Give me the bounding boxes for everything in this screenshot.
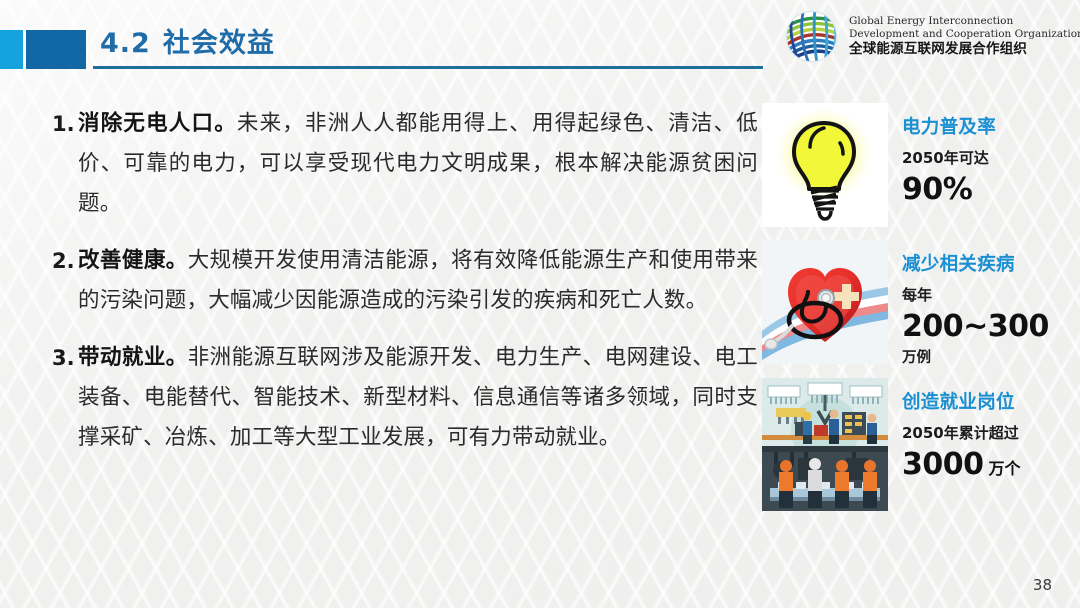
card-thumbnail (762, 240, 888, 364)
card-value-unit: 万个 (989, 459, 1021, 478)
page-number: 38 (1033, 576, 1052, 594)
list-item: 3. 带动就业。非洲能源互联网涉及能源开发、电力生产、电网建设、电工装备、电能替… (52, 338, 758, 458)
factory-workers-icon (762, 378, 888, 511)
title-underline (93, 66, 763, 69)
section-number: 4.2 (100, 28, 151, 59)
list-item-body: 消除无电人口。未来，非洲人人都能用得上、用得起绿色、清洁、低价、可靠的电力，可以… (78, 104, 758, 224)
heart-stethoscope-icon (762, 240, 888, 364)
card-heading: 创造就业岗位 (902, 388, 1021, 414)
logo-cn-name: 全球能源互联网发展合作组织 (849, 42, 1080, 58)
list-item-body: 带动就业。非洲能源互联网涉及能源开发、电力生产、电网建设、电工装备、电能替代、智… (78, 338, 758, 458)
card-heading: 减少相关疾病 (902, 250, 1049, 276)
section-title: 社会效益 (163, 28, 275, 59)
list-item-body: 改善健康。大规模开发使用清洁能源，将有效降低能源生产和使用带来的污染问题，大幅减… (78, 241, 758, 321)
stat-card-disease-reduction: 减少相关疾病 每年 200~300 万例 (762, 240, 1049, 367)
card-subtitle: 2050年可达 (902, 147, 996, 168)
organization-logo: Global Energy Interconnection Developmen… (783, 8, 1080, 65)
card-thumbnail (762, 378, 888, 511)
lightbulb-icon (762, 103, 888, 227)
title-accent-dark (26, 30, 86, 69)
list-item-number: 2. (52, 241, 78, 281)
card-value: 90% (902, 172, 996, 207)
card-value-number: 200~300 (902, 309, 1049, 344)
stat-card-jobs-created: 创造就业岗位 2050年累计超过 3000万个 (762, 378, 1021, 511)
title-accent-light (0, 30, 23, 69)
card-text-block: 减少相关疾病 每年 200~300 万例 (902, 240, 1049, 367)
body-list: 1. 消除无电人口。未来，非洲人人都能用得上、用得起绿色、清洁、低价、可靠的电力… (52, 104, 758, 475)
list-item-lead: 消除无电人口。 (78, 111, 237, 136)
card-value-unit: 万例 (902, 346, 1049, 367)
list-item: 1. 消除无电人口。未来，非洲人人都能用得上、用得起绿色、清洁、低价、可靠的电力… (52, 104, 758, 224)
stat-card-electricity-access: 电力普及率 2050年可达 90% (762, 103, 996, 227)
card-subtitle: 2050年累计超过 (902, 422, 1021, 443)
list-item-lead: 改善健康。 (78, 248, 188, 273)
card-text-block: 创造就业岗位 2050年累计超过 3000万个 (902, 378, 1021, 482)
globe-logo-icon (783, 8, 840, 65)
list-item-number: 1. (52, 104, 78, 144)
list-item: 2. 改善健康。大规模开发使用清洁能源，将有效降低能源生产和使用带来的污染问题，… (52, 241, 758, 321)
card-heading: 电力普及率 (902, 113, 996, 139)
card-thumbnail (762, 103, 888, 227)
logo-en-line1: Global Energy Interconnection (849, 15, 1080, 27)
card-value: 3000万个 (902, 447, 1021, 482)
page-title: 4.2社会效益 (100, 21, 275, 60)
card-text-block: 电力普及率 2050年可达 90% (902, 103, 996, 207)
logo-text-block: Global Energy Interconnection Developmen… (849, 15, 1080, 58)
card-value-number: 90% (902, 172, 972, 207)
list-item-number: 3. (52, 338, 78, 378)
slide-root: 4.2社会效益 (0, 0, 1080, 608)
logo-en-line2: Development and Cooperation Organization (849, 28, 1080, 40)
list-item-lead: 带动就业。 (78, 345, 188, 370)
card-value-number: 3000 (902, 447, 984, 482)
card-subtitle: 每年 (902, 284, 1049, 305)
card-value: 200~300 (902, 309, 1049, 344)
